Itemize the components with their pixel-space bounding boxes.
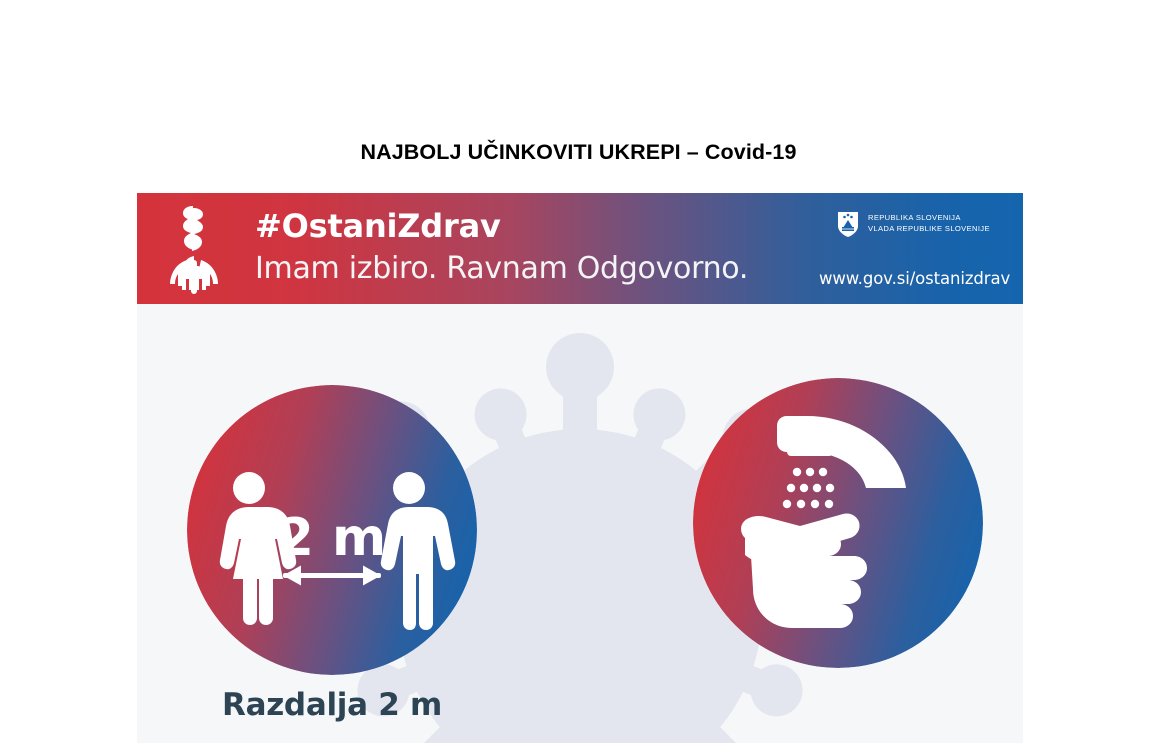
- staff-of-asclepius-emblem-icon: [163, 202, 225, 294]
- hand-washing-icon: [693, 378, 983, 668]
- social-distancing-icon: 2 m: [187, 385, 477, 675]
- slovenia-coat-of-arms-icon: [837, 211, 859, 238]
- gov-logo-line1: REPUBLIKA SLOVENIJA: [868, 213, 990, 224]
- banner-slogan: Imam izbiro. Ravnam Odgovorno.: [255, 247, 748, 291]
- distance-badge-label: 2 m: [278, 508, 386, 568]
- banner-hashtag: #OstaniZdrav: [255, 205, 748, 247]
- government-logo: REPUBLIKA SLOVENIJA VLADA REPUBLIKE SLOV…: [837, 211, 990, 238]
- government-logo-text: REPUBLIKA SLOVENIJA VLADA REPUBLIKE SLOV…: [868, 211, 990, 234]
- gov-logo-line2: VLADA REPUBLIKE SLOVENIJE: [868, 224, 990, 235]
- campaign-banner: #OstaniZdrav Imam izbiro. Ravnam Odgovor…: [137, 193, 1023, 304]
- page-title: NAJBOLJ UČINKOVITI UKREPI – Covid-19: [0, 140, 1157, 165]
- banner-text-block: #OstaniZdrav Imam izbiro. Ravnam Odgovor…: [255, 205, 748, 291]
- poster-container: #OstaniZdrav Imam izbiro. Ravnam Odgovor…: [137, 193, 1023, 743]
- measure-distance: 2 m Razdalja 2 m: [187, 385, 477, 675]
- caption-distance: Razdalja 2 m: [167, 685, 497, 726]
- campaign-url[interactable]: www.gov.si/ostanizdrav: [819, 269, 1010, 288]
- measure-hands: Redno umivanje in razkuževanje rok: [693, 378, 983, 668]
